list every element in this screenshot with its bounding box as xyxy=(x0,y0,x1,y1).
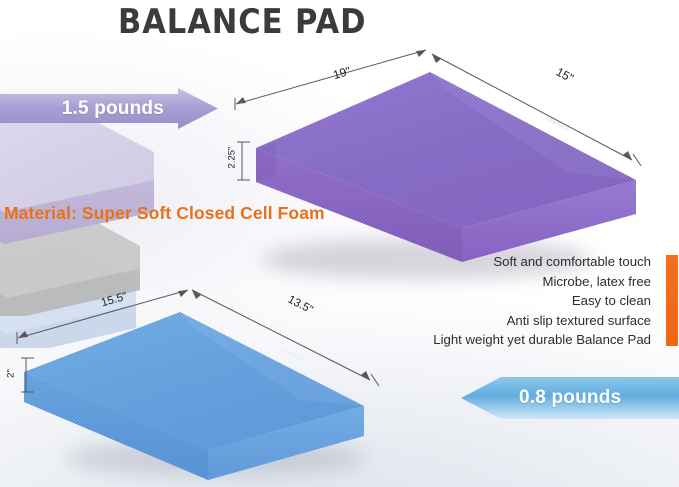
feature-item: Easy to clean xyxy=(391,291,651,311)
feature-item: Microbe, latex free xyxy=(391,272,651,292)
feature-item: Light weight yet durable Balance Pad xyxy=(391,330,651,350)
product-image-canvas: BALANCE PAD 1.5 pounds Material: Super S… xyxy=(0,0,679,487)
dimension-small-thickness-label: 2" xyxy=(6,359,17,389)
feature-item: Anti slip textured surface xyxy=(391,311,651,331)
page-title: BALANCE PAD xyxy=(118,2,366,42)
feature-list: Soft and comfortable touch Microbe, late… xyxy=(391,252,651,350)
weight-badge-large: 1.5 pounds xyxy=(0,88,218,129)
feature-item: Soft and comfortable touch xyxy=(391,252,651,272)
dimension-large-thickness-label: 2.25" xyxy=(227,138,238,178)
weight-badge-small: 0.8 pounds xyxy=(461,377,679,419)
weight-badge-large-label: 1.5 pounds xyxy=(62,98,164,120)
accent-bar xyxy=(666,255,678,346)
weight-badge-small-label: 0.8 pounds xyxy=(519,387,621,409)
ghost-pad-lavender xyxy=(0,108,180,258)
